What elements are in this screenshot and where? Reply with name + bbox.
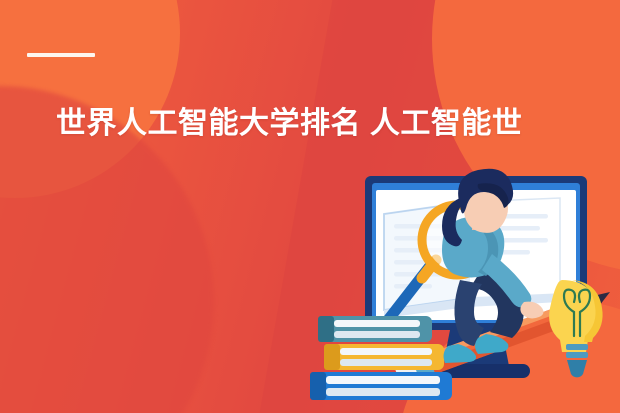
banner: 世界人工智能大学排名 人工智能世 xyxy=(0,0,620,413)
hero-illustration xyxy=(310,168,620,413)
page-title: 世界人工智能大学排名 人工智能世 xyxy=(56,104,596,144)
book-stack-icon xyxy=(310,316,452,400)
lightbulb-icon xyxy=(549,280,602,377)
accent-rule xyxy=(27,53,95,57)
